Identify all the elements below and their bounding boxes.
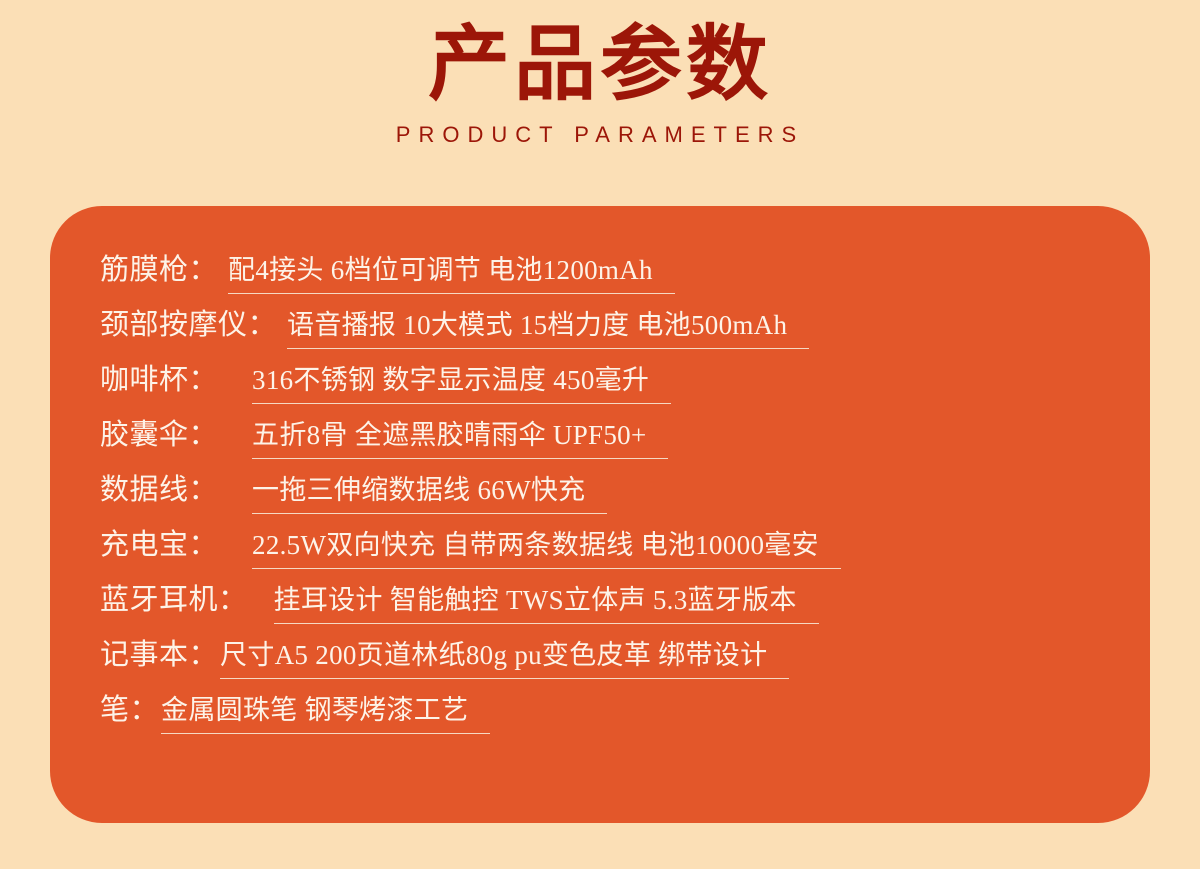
spec-row: 数据线： 一拖三伸缩数据线 66W快充 bbox=[100, 466, 1110, 521]
spec-label: 胶囊伞： bbox=[100, 411, 218, 453]
spec-value: 五折8骨 全遮黑胶晴雨伞 UPF50+ bbox=[252, 413, 668, 459]
spec-list: 筋膜枪： 配4接头 6档位可调节 电池1200mAh 颈部按摩仪： 语音播报 1… bbox=[100, 246, 1110, 741]
spec-value: 金属圆珠笔 钢琴烤漆工艺 bbox=[161, 688, 490, 734]
spec-label: 记事本： bbox=[100, 631, 218, 673]
spec-label: 数据线： bbox=[100, 466, 218, 508]
page-subtitle: PRODUCT PARAMETERS bbox=[0, 112, 1200, 148]
spec-value: 316不锈钢 数字显示温度 450毫升 bbox=[252, 358, 671, 404]
spec-panel: 筋膜枪： 配4接头 6档位可调节 电池1200mAh 颈部按摩仪： 语音播报 1… bbox=[50, 206, 1150, 823]
spec-row: 笔： 金属圆珠笔 钢琴烤漆工艺 bbox=[100, 686, 1110, 741]
page-title: 产品参数 bbox=[0, 0, 1200, 112]
spec-label: 颈部按摩仪： bbox=[100, 301, 277, 343]
spec-label: 咖啡杯： bbox=[100, 356, 218, 398]
spec-value: 语音播报 10大模式 15档力度 电池500mAh bbox=[287, 303, 809, 349]
spec-row: 胶囊伞： 五折8骨 全遮黑胶晴雨伞 UPF50+ bbox=[100, 411, 1110, 466]
product-parameters-page: 产品参数 PRODUCT PARAMETERS 筋膜枪： 配4接头 6档位可调节… bbox=[0, 0, 1200, 869]
spec-value: 挂耳设计 智能触控 TWS立体声 5.3蓝牙版本 bbox=[274, 578, 819, 624]
spec-value: 配4接头 6档位可调节 电池1200mAh bbox=[228, 248, 675, 294]
spec-row: 咖啡杯： 316不锈钢 数字显示温度 450毫升 bbox=[100, 356, 1110, 411]
spec-label: 充电宝： bbox=[100, 521, 218, 563]
spec-label: 笔： bbox=[100, 686, 159, 728]
spec-row: 筋膜枪： 配4接头 6档位可调节 电池1200mAh bbox=[100, 246, 1110, 301]
page-header: 产品参数 PRODUCT PARAMETERS bbox=[0, 0, 1200, 190]
spec-row: 蓝牙耳机： 挂耳设计 智能触控 TWS立体声 5.3蓝牙版本 bbox=[100, 576, 1110, 631]
spec-row: 充电宝： 22.5W双向快充 自带两条数据线 电池10000毫安 bbox=[100, 521, 1110, 576]
spec-row: 颈部按摩仪： 语音播报 10大模式 15档力度 电池500mAh bbox=[100, 301, 1110, 356]
spec-value: 尺寸A5 200页道林纸80g pu变色皮革 绑带设计 bbox=[220, 633, 789, 679]
spec-value: 22.5W双向快充 自带两条数据线 电池10000毫安 bbox=[252, 523, 841, 569]
spec-row: 记事本： 尺寸A5 200页道林纸80g pu变色皮革 绑带设计 bbox=[100, 631, 1110, 686]
spec-label: 筋膜枪： bbox=[100, 246, 218, 288]
spec-value: 一拖三伸缩数据线 66W快充 bbox=[252, 468, 607, 514]
spec-label: 蓝牙耳机： bbox=[100, 576, 248, 618]
